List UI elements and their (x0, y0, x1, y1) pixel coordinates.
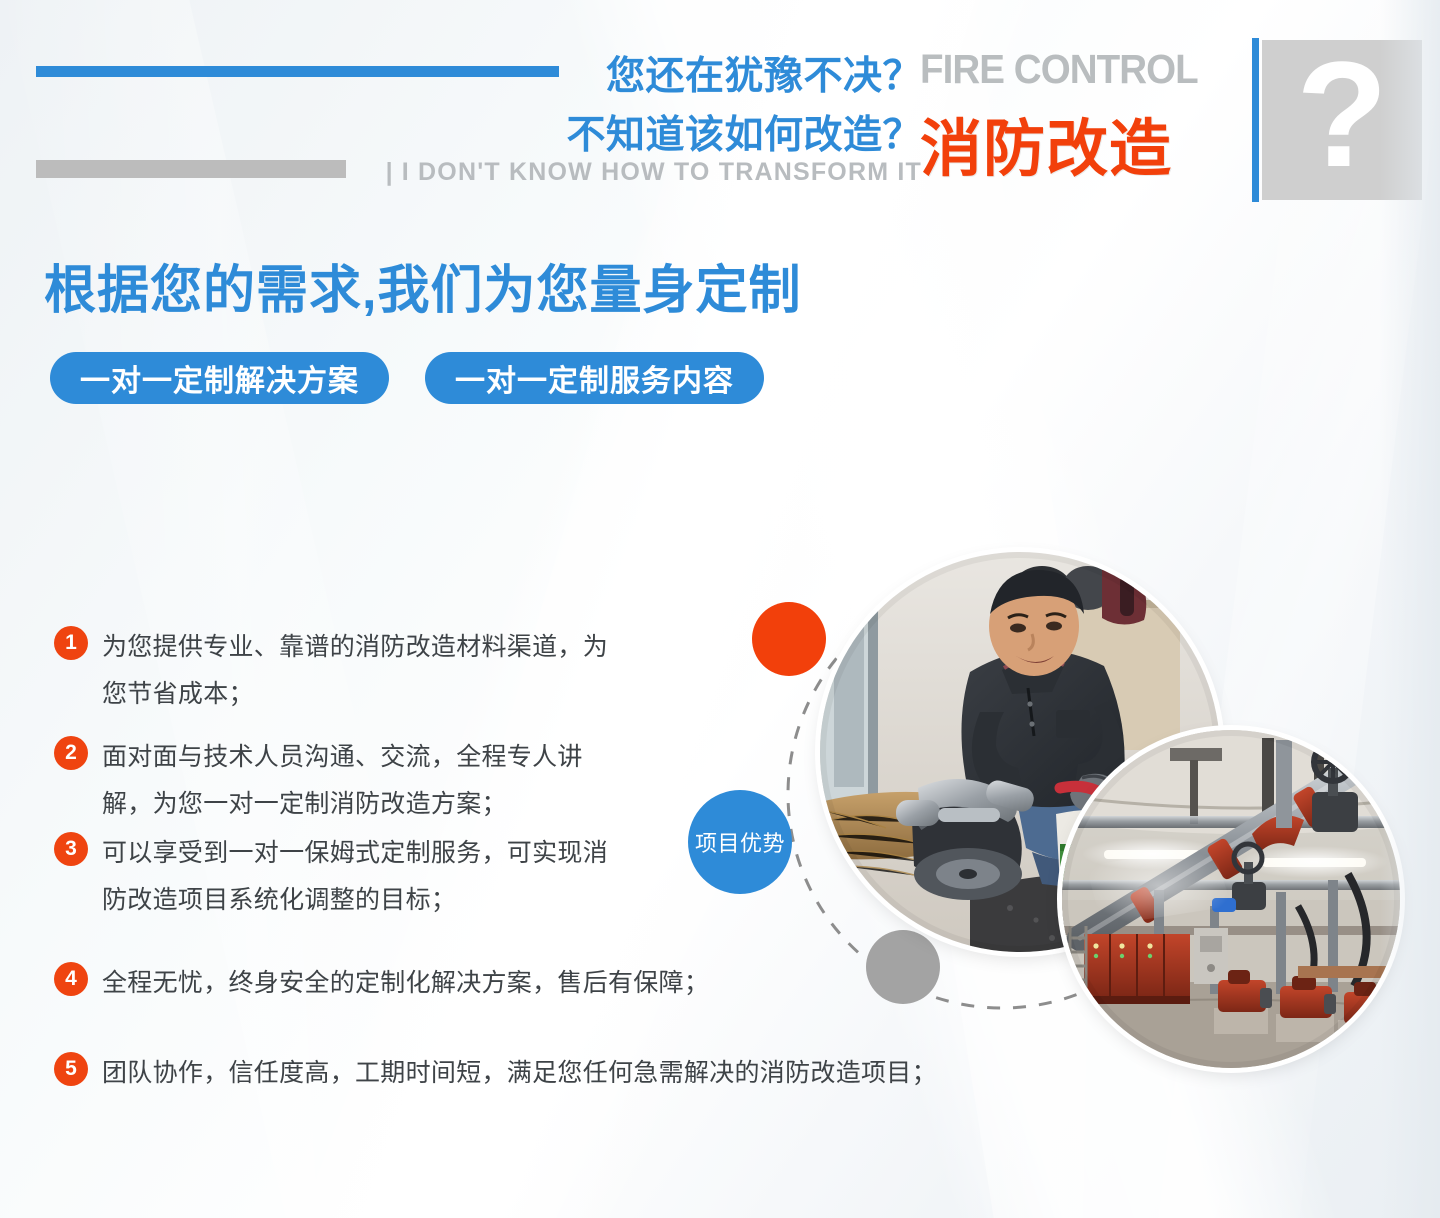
project-advantage-badge: 项目优势 (688, 790, 792, 894)
list-item-number: 3 (54, 832, 88, 866)
header-fire-control-cn: 消防改造 (920, 98, 1172, 188)
list-item-number: 1 (54, 626, 88, 660)
list-item: 1 为您提供专业、靠谱的消防改造材料渠道，为 您节省成本； (54, 624, 608, 718)
photo-pumproom-illustration (1062, 730, 1400, 1068)
list-item-number: 4 (54, 962, 88, 996)
promo-page: 您还在犹豫不决？ 不知道该如何改造？ |I DON'T KNOW HOW TO … (0, 0, 1440, 1218)
list-item: 4 全程无忧，终身安全的定制化解决方案，售后有保障； (54, 960, 709, 1007)
header-subtitle-tick: | (386, 158, 394, 187)
pill-custom-solution[interactable]: 一对一定制解决方案 (50, 352, 389, 404)
list-item-text: 面对面与技术人员沟通、交流，全程专人讲 解，为您一对一定制消防改造方案； (102, 734, 583, 828)
list-item-text: 为您提供专业、靠谱的消防改造材料渠道，为 您节省成本； (102, 624, 608, 718)
list-item-text: 可以享受到一对一保姆式定制服务，可实现消 防改造项目系统化调整的目标； (102, 830, 608, 924)
page-header: 您还在犹豫不决？ 不知道该如何改造？ |I DON'T KNOW HOW TO … (0, 0, 1440, 210)
pill-row: 一对一定制解决方案 一对一定制服务内容 (50, 352, 764, 404)
list-item: 5 团队协作，信任度高，工期时间短，满足您任何急需解决的消防改造项目； (54, 1050, 937, 1097)
list-item-text: 团队协作，信任度高，工期时间短，满足您任何急需解决的消防改造项目； (102, 1050, 937, 1097)
list-item: 3 可以享受到一对一保姆式定制服务，可实现消 防改造项目系统化调整的目标； (54, 830, 608, 924)
list-item: 2 面对面与技术人员沟通、交流，全程专人讲 解，为您一对一定制消防改造方案； (54, 734, 583, 828)
question-mark-accent-bar (1252, 38, 1259, 202)
header-fire-control-en: FIRE CONTROL (920, 46, 1198, 93)
list-item-number: 2 (54, 736, 88, 770)
header-grey-rule (36, 160, 346, 178)
photo-fire-pump-room (1062, 730, 1400, 1068)
page-title: 根据您的需求,我们为您量身定制 (44, 248, 801, 323)
header-question-line-1: 您还在犹豫不决？ (606, 45, 922, 101)
header-question-line-2: 不知道该如何改造？ (566, 104, 922, 160)
header-english-subtitle: |I DON'T KNOW HOW TO TRANSFORM IT (386, 158, 922, 187)
decor-dot-orange (752, 602, 826, 676)
header-blue-rule (36, 66, 559, 77)
pill-custom-service[interactable]: 一对一定制服务内容 (425, 352, 764, 404)
decor-dot-grey (866, 930, 940, 1004)
question-mark-icon: ? (1262, 40, 1422, 200)
header-english-subtitle-text: I DON'T KNOW HOW TO TRANSFORM IT (402, 158, 922, 186)
list-item-number: 5 (54, 1052, 88, 1086)
list-item-text: 全程无忧，终身安全的定制化解决方案，售后有保障； (102, 960, 709, 1007)
